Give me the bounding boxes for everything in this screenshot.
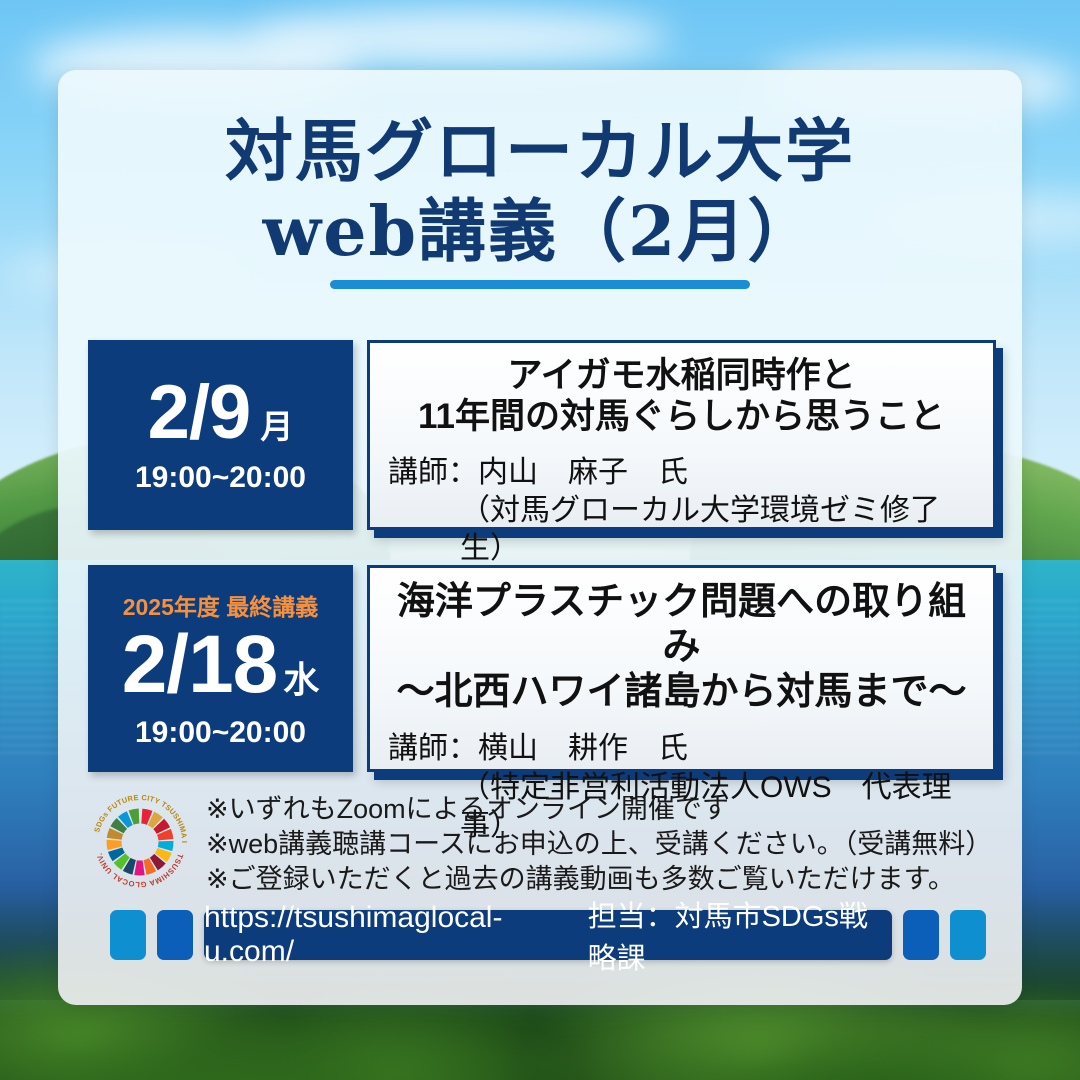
- event-2-lecture-title: 海洋プラスチック問題への取り組み 〜北西ハワイ諸島から対馬まで〜: [388, 580, 975, 714]
- event-2-content-box: 海洋プラスチック問題への取り組み 〜北西ハワイ諸島から対馬まで〜 講師：横山 耕…: [367, 565, 996, 772]
- event-2-date-main: 2/18 水: [122, 624, 320, 706]
- event-2-speaker-name: 講師：横山 耕作 氏: [388, 732, 688, 765]
- department-label: 担当：対馬市SDGs戦略課: [588, 893, 892, 977]
- event-1-lecture-title: アイガモ水稲同時作と 11年間の対馬ぐらしから思うこと: [388, 355, 975, 438]
- notes-section: SDGs FUTURE CITY TSUSHIMA ISLAND TSUSHIM…: [88, 788, 996, 897]
- event-2-day-of-week: 水: [283, 651, 319, 703]
- event-2-time: 19:00~20:00: [135, 716, 306, 750]
- decor-square-right-2: [950, 910, 986, 960]
- page-title-line1: 対馬グローカル大学: [58, 116, 1022, 188]
- content-panel: 対馬グローカル大学 web講義（2月） 2/9 月 19:00~20:00 アイ…: [58, 70, 1022, 1005]
- decor-square-left-1: [110, 910, 146, 960]
- event-1-speaker: 講師：内山 麻子 氏 （対馬グローカル大学環境ゼミ修了生）: [388, 454, 975, 569]
- event-row-2: 2025年度 最終講義 2/18 水 19:00~20:00 海洋プラスチック問…: [88, 565, 996, 772]
- event-1-date-box: 2/9 月 19:00~20:00: [88, 340, 353, 530]
- notes-text: ※いずれもZoomによるオンライン開催です ※web講義聴講コースにお申込の上、…: [206, 788, 992, 897]
- event-2-lecture-title-line2: 〜北西ハワイ諸島から対馬まで〜: [388, 670, 975, 715]
- event-row-1: 2/9 月 19:00~20:00 アイガモ水稲同時作と 11年間の対馬ぐらしか…: [88, 340, 996, 530]
- footer-bar: https://tsushimaglocal-u.com/ 担当：対馬市SDGs…: [110, 908, 986, 961]
- background-cloud: [250, 10, 670, 65]
- event-1-time: 19:00~20:00: [135, 461, 306, 495]
- event-2-date-box: 2025年度 最終講義 2/18 水 19:00~20:00: [88, 565, 353, 772]
- website-url[interactable]: https://tsushimaglocal-u.com/: [204, 901, 554, 969]
- decor-square-left-2: [157, 910, 193, 960]
- note-line-1: ※いずれもZoomによるオンライン開催です: [206, 792, 992, 827]
- sdgs-wheel-logo-icon: SDGs FUTURE CITY TSUSHIMA ISLAND TSUSHIM…: [88, 790, 192, 894]
- event-2-date: 2/18: [122, 624, 278, 706]
- event-1-lecture-title-line1: アイガモ水稲同時作と: [388, 355, 975, 396]
- title-underline: [330, 280, 750, 289]
- event-1-content-box: アイガモ水稲同時作と 11年間の対馬ぐらしから思うこと 講師：内山 麻子 氏 （…: [367, 340, 996, 530]
- event-1-lecture-title-line2: 11年間の対馬ぐらしから思うこと: [388, 396, 975, 437]
- event-2-badge: 2025年度 最終講義: [123, 588, 319, 622]
- page-title: 対馬グローカル大学 web講義（2月）: [58, 116, 1022, 289]
- event-1-speaker-affiliation: （対馬グローカル大学環境ゼミ修了生）: [388, 492, 975, 569]
- page-title-line2: web講義（2月）: [58, 196, 1022, 268]
- event-1-speaker-name: 講師：内山 麻子 氏: [388, 456, 688, 489]
- decor-square-right-1: [903, 910, 939, 960]
- event-1-day-of-week: 月: [260, 400, 293, 448]
- note-line-2: ※web講義聴講コースにお申込の上、受講ください。（受講無料）: [206, 827, 992, 862]
- url-bar[interactable]: https://tsushimaglocal-u.com/ 担当：対馬市SDGs…: [204, 910, 892, 960]
- event-1-date-main: 2/9 月: [148, 375, 294, 451]
- event-2-lecture-title-line1: 海洋プラスチック問題への取り組み: [388, 580, 975, 670]
- event-1-date: 2/9: [148, 375, 251, 451]
- poster-root: 対馬グローカル大学 web講義（2月） 2/9 月 19:00~20:00 アイ…: [0, 0, 1080, 1080]
